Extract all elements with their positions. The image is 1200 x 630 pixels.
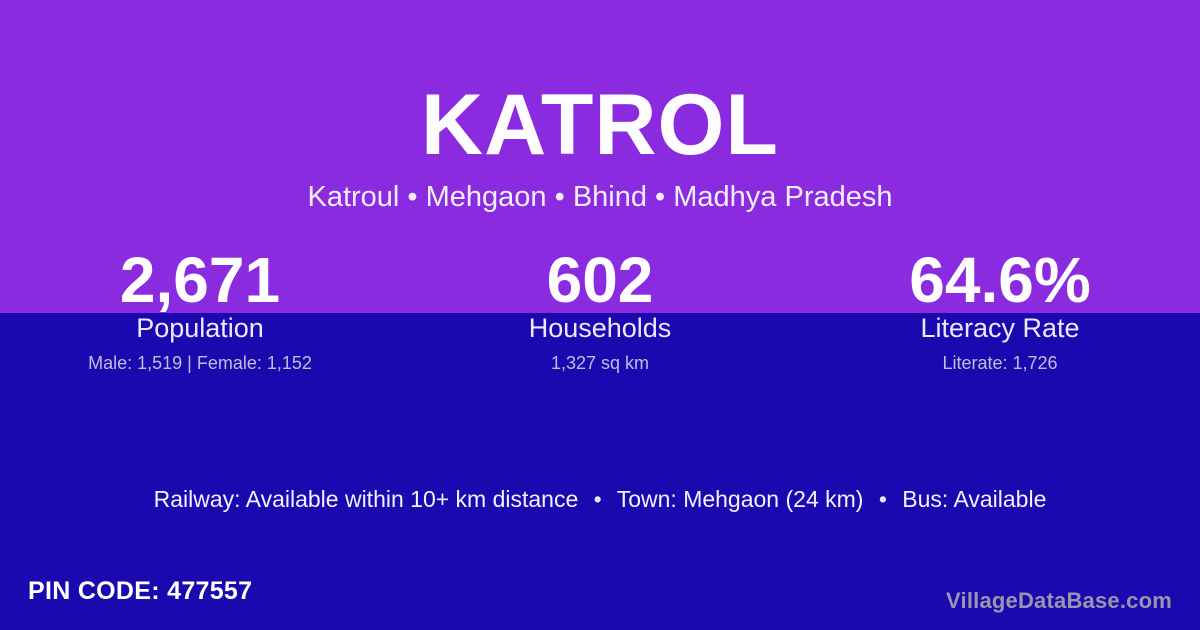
facility-bus: Bus: Available (902, 486, 1046, 512)
facility-town: Town: Mehgaon (24 km) (617, 486, 864, 512)
village-info-card: KATROL Katroul • Mehgaon • Bhind • Madhy… (0, 0, 1200, 630)
stat-value-households: 602 (400, 248, 800, 310)
stat-label-literacy: Literacy Rate (800, 313, 1200, 344)
stat-label-population: Population (0, 313, 400, 344)
facility-separator-1: • (585, 486, 611, 512)
brand-watermark: VillageDataBase.com (946, 588, 1172, 614)
facility-railway: Railway: Available within 10+ km distanc… (154, 486, 579, 512)
page-title: KATROL (0, 82, 1200, 168)
facility-separator-2: • (870, 486, 896, 512)
breadcrumb: Katroul • Mehgaon • Bhind • Madhya Prade… (0, 183, 1200, 212)
pin-code-label: PIN CODE: 477557 (28, 576, 252, 606)
card-content: KATROL Katroul • Mehgaon • Bhind • Madhy… (0, 0, 1200, 630)
facilities-row: Railway: Available within 10+ km distanc… (0, 486, 1200, 514)
stats-row: 2,671 Population Male: 1,519 | Female: 1… (0, 248, 1200, 374)
stat-value-literacy: 64.6% (800, 248, 1200, 310)
stat-block-population: 2,671 Population Male: 1,519 | Female: 1… (0, 248, 400, 374)
stat-label-households: Households (400, 313, 800, 344)
stat-sub-population: Male: 1,519 | Female: 1,152 (0, 353, 400, 374)
stat-block-literacy: 64.6% Literacy Rate Literate: 1,726 (800, 248, 1200, 374)
stat-sub-literacy: Literate: 1,726 (800, 353, 1200, 374)
stat-value-population: 2,671 (0, 248, 400, 310)
stat-sub-households: 1,327 sq km (400, 353, 800, 374)
stat-block-households: 602 Households 1,327 sq km (400, 248, 800, 374)
